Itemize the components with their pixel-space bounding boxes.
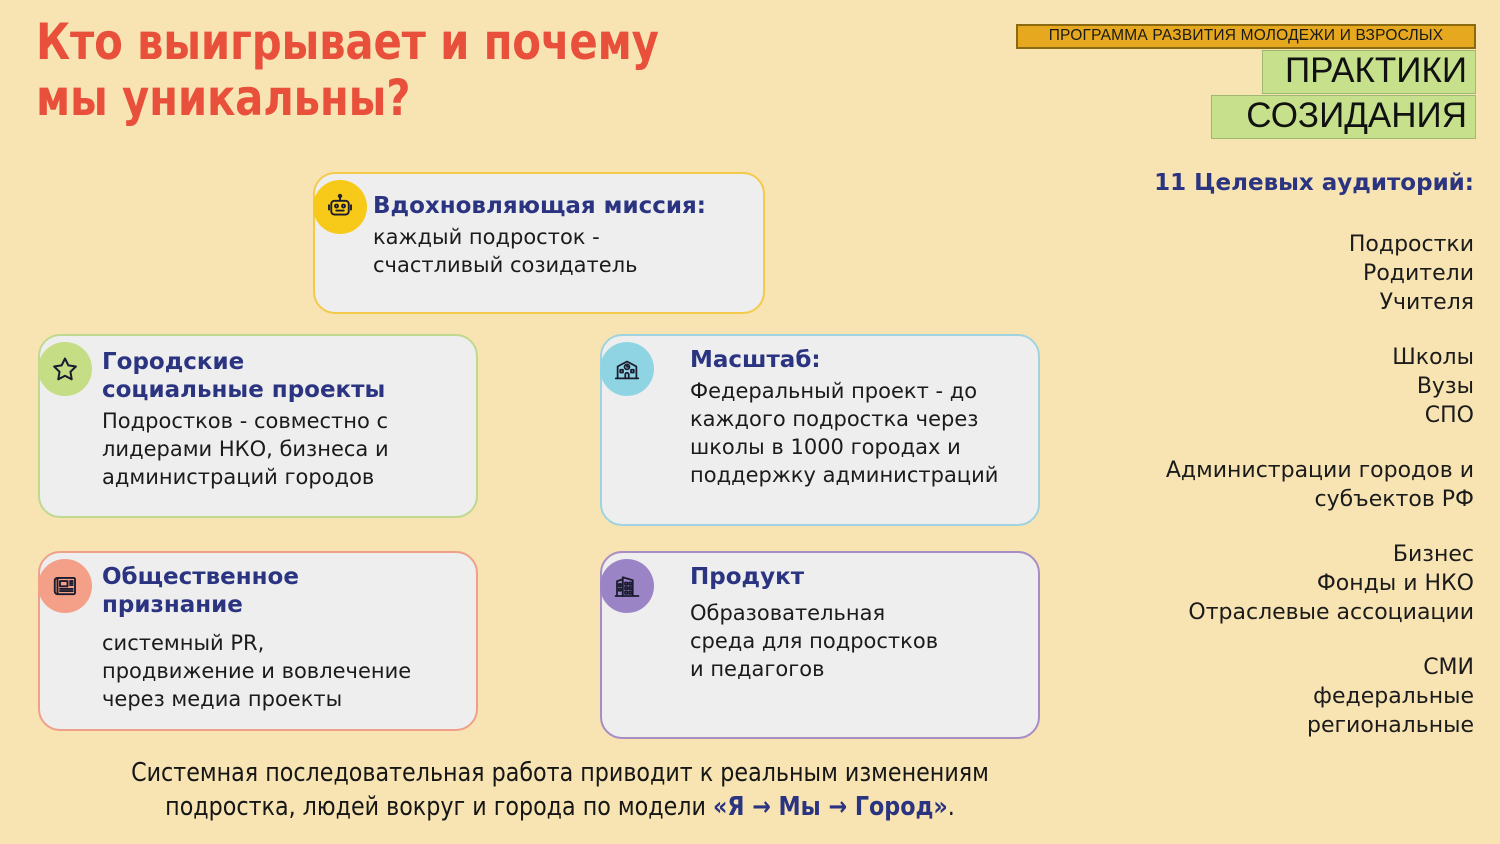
school-building-icon (600, 342, 654, 396)
audience-group: Школы Вузы СПО (1074, 343, 1474, 430)
newspaper-icon (38, 559, 92, 613)
card-public-recognition: Общественное признание системный PR, про… (38, 551, 478, 731)
card-text: каждый подросток - счастливый созидатель (373, 223, 751, 279)
card-title: Масштаб: (690, 346, 1030, 374)
card-title: Городские социальные проекты (102, 348, 464, 404)
target-audiences-panel: 11 Целевых аудиторий: Подростки Родители… (1074, 170, 1474, 766)
star-icon (38, 342, 92, 396)
footer-text-after: . (948, 792, 955, 822)
audience-item: Родители (1074, 259, 1474, 288)
audience-item: Отраслевые ассоциации (1074, 598, 1474, 627)
brand-logo: ПРОГРАММА РАЗВИТИЯ МОЛОДЕЖИ И ВЗРОСЛЫХ П… (1016, 24, 1476, 139)
card-text: Подростков - совместно с лидерами НКО, б… (102, 407, 464, 491)
card-title: Общественное признание (102, 563, 464, 619)
card-text: системный PR, продвижение и вовлечение ч… (102, 629, 464, 713)
audience-item: Учителя (1074, 288, 1474, 317)
audience-item: Администрации городов и субъектов РФ (1074, 456, 1474, 514)
audience-item: СПО (1074, 401, 1474, 430)
audience-item: СМИ (1074, 653, 1474, 682)
audience-item: федеральные (1074, 682, 1474, 711)
page-title: Кто выигрывает и почему мы уникальны? (36, 14, 761, 126)
audience-item: региональные (1074, 711, 1474, 740)
footer-summary: Системная последовательная работа привод… (66, 756, 1054, 825)
audience-item: Вузы (1074, 372, 1474, 401)
card-text: Образовательная среда для подростков и п… (690, 599, 1026, 683)
card-title: Вдохновляющая миссия: (373, 192, 751, 220)
card-title: Продукт (690, 563, 1026, 591)
robot-icon (313, 180, 367, 234)
card-city-social-projects: Городские социальные проекты Подростков … (38, 334, 478, 518)
card-inspiring-mission: Вдохновляющая миссия: каждый подросток -… (313, 172, 765, 314)
audience-group: Администрации городов и субъектов РФ (1074, 456, 1474, 514)
logo-program-banner: ПРОГРАММА РАЗВИТИЯ МОЛОДЕЖИ И ВЗРОСЛЫХ (1016, 24, 1476, 49)
audience-group: Бизнес Фонды и НКО Отраслевые ассоциации (1074, 540, 1474, 627)
card-scale: Масштаб: Федеральный проект - до каждого… (600, 334, 1040, 526)
audience-item: Подростки (1074, 230, 1474, 259)
audiences-heading: 11 Целевых аудиторий: (1074, 170, 1474, 198)
logo-word-sozidaniya: СОЗИДАНИЯ (1211, 95, 1476, 139)
card-text: Федеральный проект - до каждого подростк… (690, 377, 1030, 490)
audience-group: СМИ федеральные региональные (1074, 653, 1474, 740)
footer-highlight: «Я → Мы → Город» (713, 792, 948, 822)
audience-item: Бизнес (1074, 540, 1474, 569)
audience-item: Фонды и НКО (1074, 569, 1474, 598)
card-product: Продукт Образовательная среда для подрос… (600, 551, 1040, 739)
audience-group: Подростки Родители Учителя (1074, 230, 1474, 317)
logo-word-praktiki: ПРАКТИКИ (1262, 50, 1476, 94)
office-buildings-icon (600, 559, 654, 613)
audience-item: Школы (1074, 343, 1474, 372)
